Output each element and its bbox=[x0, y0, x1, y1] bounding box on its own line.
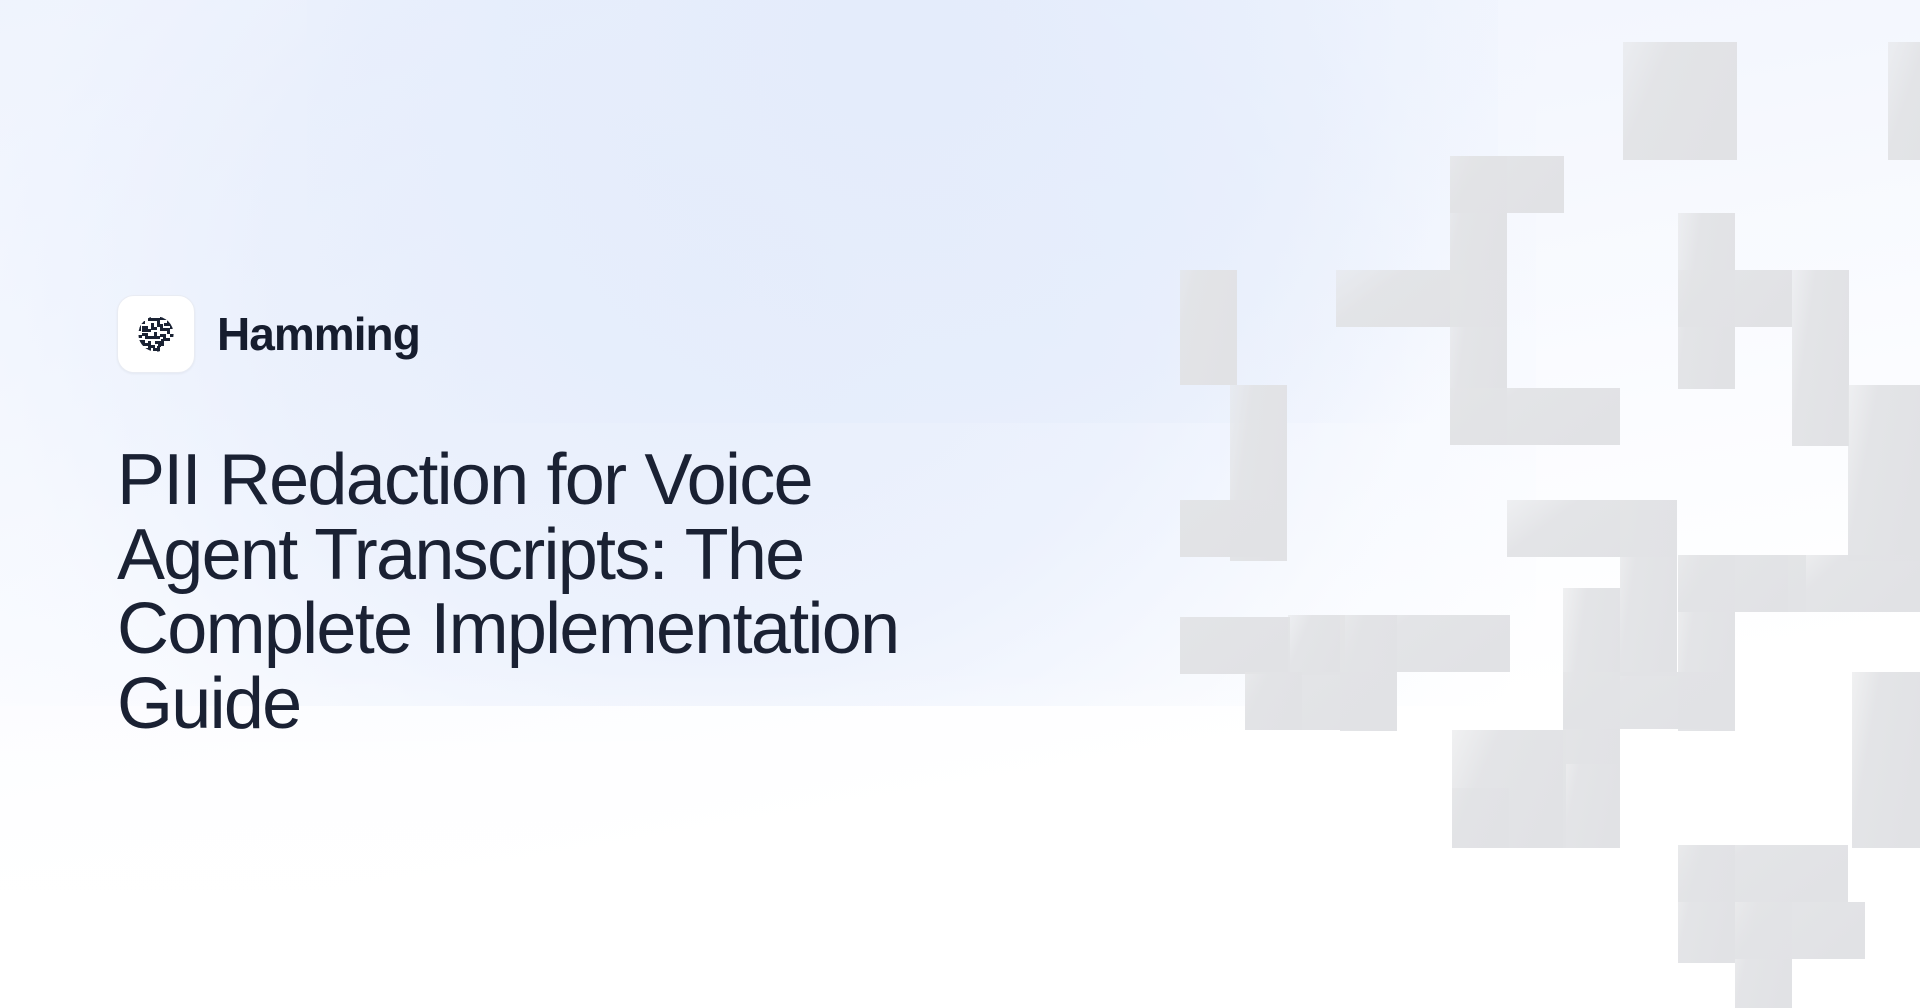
brand-name: Hamming bbox=[217, 311, 420, 357]
brand-row: Hamming bbox=[117, 295, 1117, 373]
brand-logo-badge bbox=[117, 295, 195, 373]
hamming-maze-logo-icon bbox=[134, 312, 178, 356]
page-title: PII Redaction for Voice Agent Transcript… bbox=[117, 443, 977, 741]
og-card: Hamming PII Redaction for Voice Agent Tr… bbox=[0, 0, 1920, 1008]
hero-content: Hamming PII Redaction for Voice Agent Tr… bbox=[117, 295, 1117, 741]
